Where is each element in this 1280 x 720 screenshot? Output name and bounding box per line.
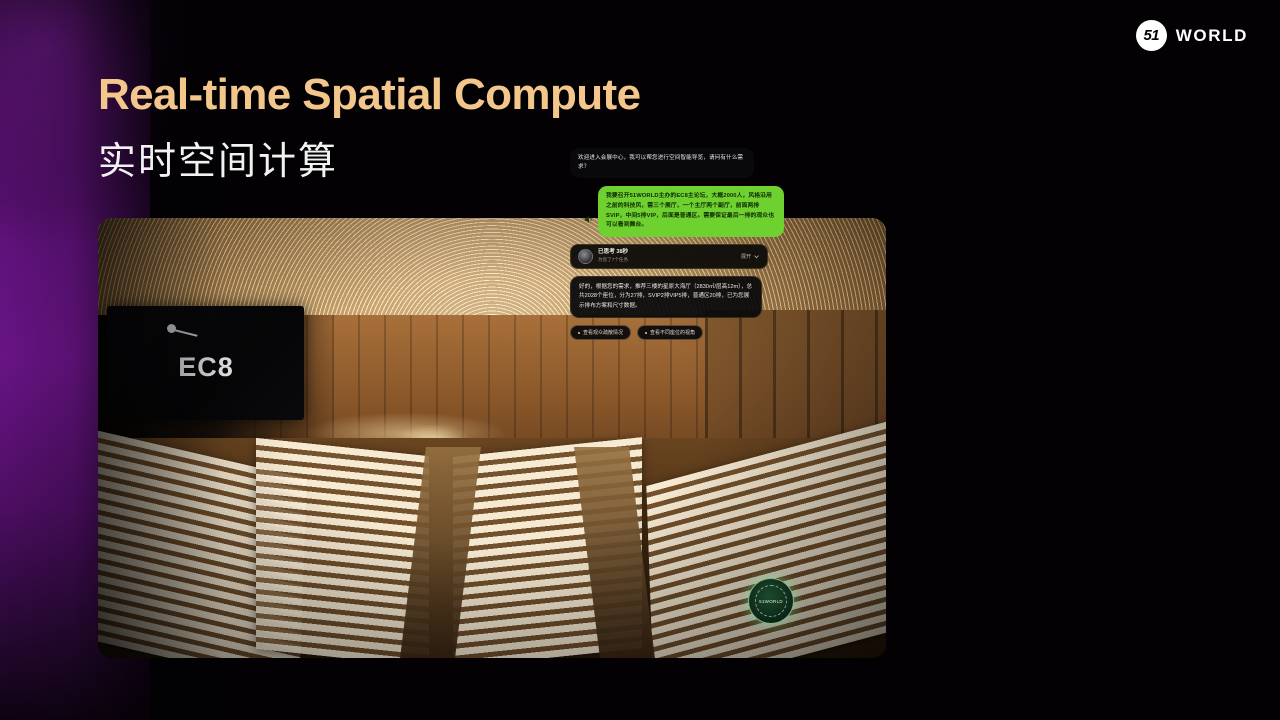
ai-chat-overlay: 欢迎进入会展中心，我可以帮您进行空间智能导览，请问有什么需求？ 我要召开51WO… [570, 148, 768, 340]
51world-mark-icon [167, 324, 201, 334]
page-title-chinese: 实时空间计算 [98, 130, 338, 185]
assistant-greeting-bubble: 欢迎进入会展中心，我可以帮您进行空间智能导览，请问有什么需求？ [570, 148, 754, 178]
stage-led-screen: EC8 [107, 306, 304, 420]
suggestion-chip-label: 查看不同座位的视角 [650, 329, 695, 336]
suggestion-chip-viewangle[interactable]: 查看不同座位的视角 [637, 325, 703, 340]
brand-logo: 51 WORLD [1136, 20, 1248, 51]
chip-dot-icon [578, 332, 580, 334]
user-message-bubble: 我要召开51WORLD主办的EC8主论坛，大概2000人，风格沿用之前的科技风，… [598, 186, 784, 236]
page-title-english: Real-time Spatial Compute [98, 70, 640, 120]
assistant-answer-bubble: 好的，根据您的需求，推荐三楼的星原大海厅（2830㎡/层高12m），总共2028… [570, 276, 762, 319]
logo-wordmark: WORLD [1176, 26, 1248, 46]
thinking-toggle-label: 展开 [741, 253, 751, 260]
circular-badge-icon: 51WORLD [748, 578, 794, 624]
assistant-avatar [578, 249, 593, 264]
corner-glow [0, 0, 240, 250]
seat-block [256, 438, 429, 658]
chevron-down-icon [753, 253, 760, 260]
user-message-text: 我要召开51WORLD主办的EC8主论坛，大概2000人，风格沿用之前的科技风，… [606, 193, 774, 228]
presentation-slide: 51 WORLD Real-time Spatial Compute 实时空间计… [0, 0, 1280, 720]
suggestion-chip-label: 查看观众疏散情况 [583, 329, 623, 336]
thinking-title: 已思考 38秒 [598, 249, 736, 257]
emblem-label: 51WORLD [755, 585, 787, 617]
speaker-icon[interactable] [583, 214, 594, 225]
chip-dot-icon [645, 332, 647, 334]
thinking-subtitle: 为您了7个任务 [598, 257, 736, 263]
thinking-texts: 已思考 38秒 为您了7个任务 [598, 249, 736, 263]
thinking-status-row[interactable]: 已思考 38秒 为您了7个任务 展开 [570, 244, 768, 269]
led-screen-text: EC8 [107, 352, 304, 383]
suggestion-chips: 查看观众疏散情况 查看不同座位的视角 [570, 325, 768, 340]
thinking-toggle[interactable]: 展开 [741, 253, 760, 260]
suggestion-chip-evacuation[interactable]: 查看观众疏散情况 [570, 325, 631, 340]
floating-emblem[interactable]: 51WORLD [748, 578, 794, 624]
logo-mark-icon: 51 [1136, 20, 1167, 51]
